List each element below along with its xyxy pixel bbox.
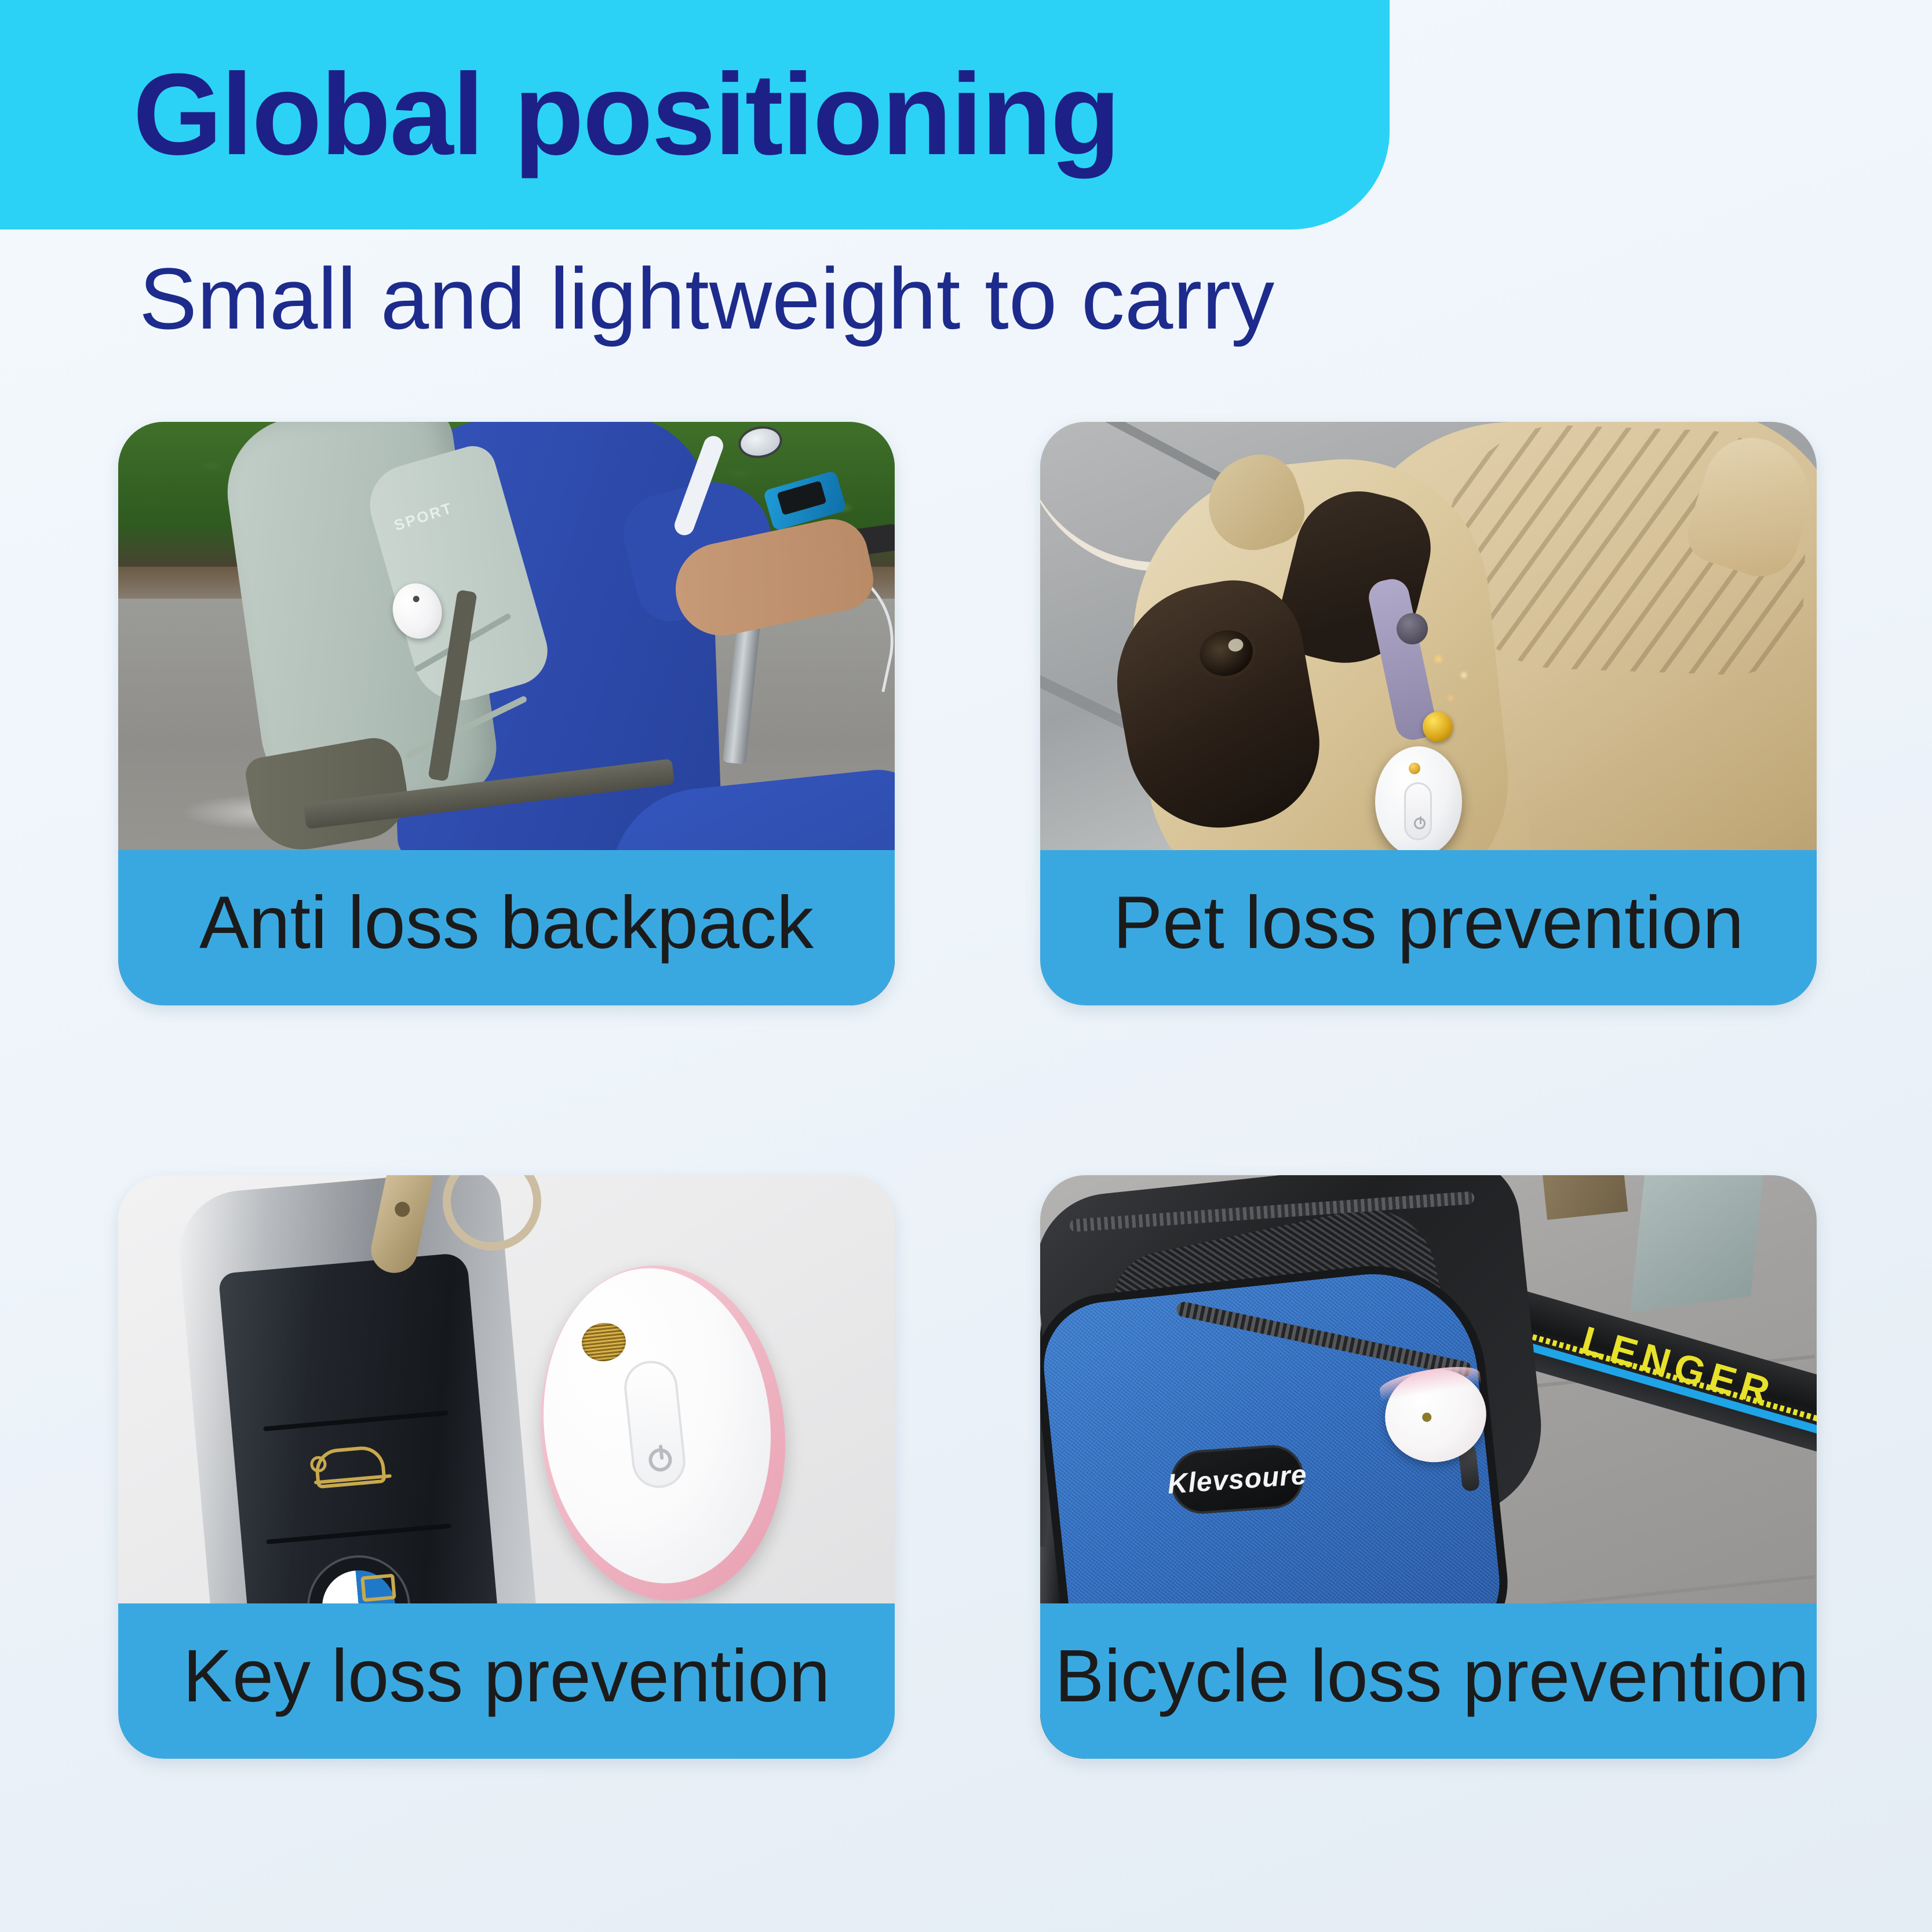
feature-card-bicycle-loss-prevention[interactable]: LENGER ME (1040, 1175, 1817, 1759)
tracker-button (1404, 782, 1432, 840)
card-caption-label: Key loss prevention (183, 1639, 830, 1714)
card-caption-label: Bicycle loss prevention (1055, 1639, 1809, 1714)
bag-brand-label: Klevsoure (1167, 1459, 1308, 1500)
gps-tracker-device (1375, 746, 1462, 856)
card-caption-bar: Pet loss prevention (1040, 850, 1817, 1005)
card-caption-label: Pet loss prevention (1113, 886, 1744, 960)
feature-card-anti-loss-backpack[interactable]: SPORT Anti loss backpack (118, 422, 895, 1005)
bag-brand-patch: Klevsoure (1168, 1443, 1306, 1516)
tracker-led-icon (1421, 1412, 1432, 1423)
card-caption-bar: Key loss prevention (118, 1603, 895, 1759)
feature-card-key-loss-prevention[interactable]: BMW Key loss prevention (118, 1175, 895, 1759)
lock-icon (360, 1574, 396, 1602)
card-caption-label: Anti loss backpack (199, 886, 814, 960)
tracker-led-icon (412, 595, 420, 603)
power-icon (647, 1447, 673, 1472)
feature-card-pet-loss-prevention[interactable]: Pet loss prevention (1040, 422, 1817, 1005)
header-banner: Global positioning (0, 0, 1390, 229)
subtitle: Small and lightweight to carry (139, 255, 1274, 342)
collar-bell-icon (1423, 712, 1453, 742)
page-title: Global positioning (6, 57, 1120, 173)
card-caption-bar: Bicycle loss prevention (1040, 1603, 1817, 1759)
feature-card-grid: SPORT Anti loss backpack (0, 422, 1932, 1789)
card-caption-bar: Anti loss backpack (118, 850, 895, 1005)
tracker-led-icon (1409, 763, 1420, 774)
power-icon (1414, 818, 1426, 829)
